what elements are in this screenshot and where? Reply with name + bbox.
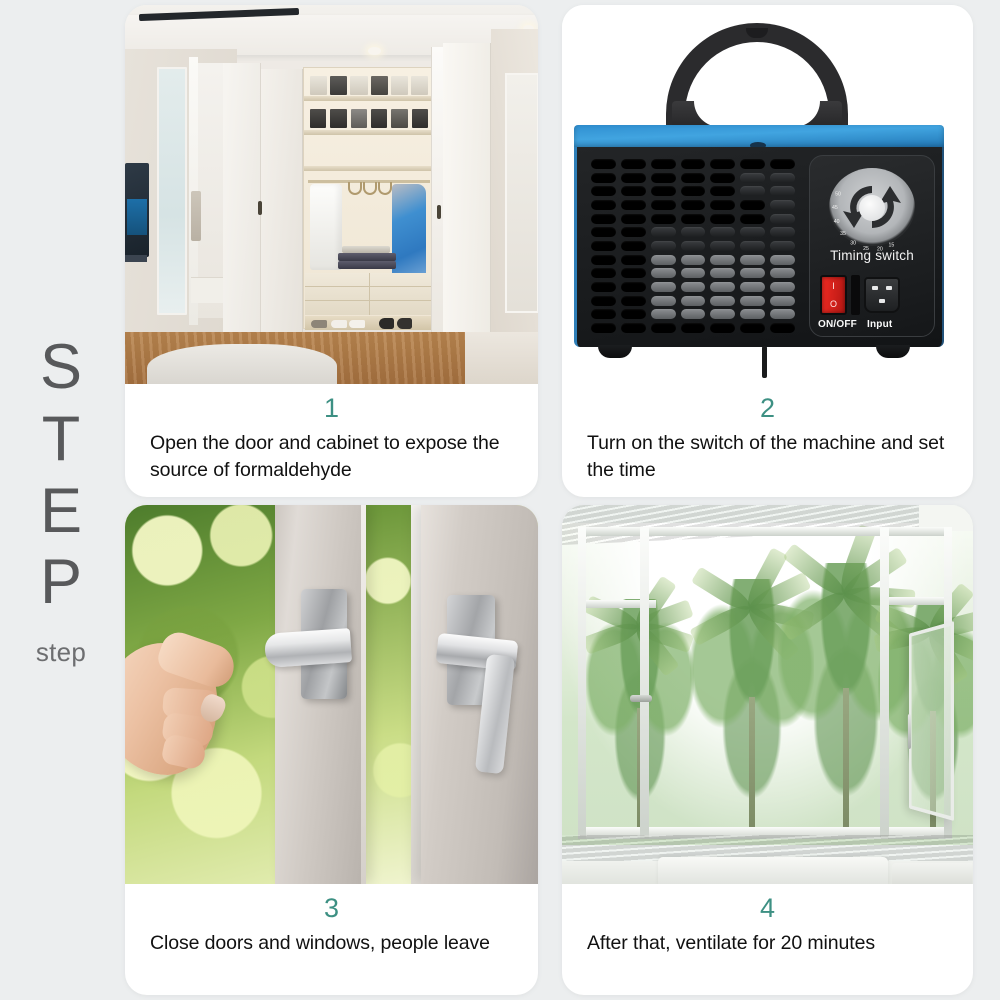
step-2-number: 2 xyxy=(587,392,948,426)
step-4-text: After that, ventilate for 20 minutes xyxy=(587,930,948,957)
step-letters-group: S T E P xyxy=(40,332,82,619)
interior-furniture xyxy=(658,857,888,884)
switch-on-mark: I xyxy=(832,282,835,291)
step-letter-p: P xyxy=(40,547,82,619)
step-1-photo xyxy=(125,5,538,384)
dial-tick-45: 45 xyxy=(832,205,838,211)
wardrobe-drawers xyxy=(305,273,433,315)
step-4-photo xyxy=(562,505,973,884)
step-letter-t: T xyxy=(42,404,80,476)
power-rocker-switch[interactable]: I O xyxy=(820,275,847,315)
palm-tree xyxy=(586,599,694,835)
step-1-caption: 1 Open the door and cabinet to expose th… xyxy=(125,384,538,497)
step-letter-e: E xyxy=(40,476,82,548)
machine-body: 15 20 25 30 35 40 45 50 xyxy=(574,147,944,347)
bifold-door-right-inner xyxy=(431,47,443,349)
blue-garment xyxy=(392,184,426,280)
step-2-photo: 15 20 25 30 35 40 45 50 xyxy=(562,5,973,384)
input-label: Input xyxy=(867,319,892,330)
dial-tick-50: 50 xyxy=(835,191,841,197)
hand-grasping-handle xyxy=(125,633,251,783)
machine-foot xyxy=(598,345,632,358)
step-card-1: 1 Open the door and cabinet to expose th… xyxy=(125,5,538,497)
carry-handle xyxy=(666,23,848,113)
ceiling-spotlight-icon xyxy=(368,47,381,55)
window-ventilation-scene xyxy=(562,505,973,884)
right-wall-panel xyxy=(505,73,538,313)
hanging-towel xyxy=(191,191,201,241)
step-3-text: Close doors and windows, people leave xyxy=(150,930,513,957)
timing-switch-label: Timing switch xyxy=(810,248,934,263)
power-input-socket xyxy=(864,277,900,313)
step-2-text: Turn on the switch of the machine and se… xyxy=(587,430,948,484)
door-handle-scene xyxy=(125,505,538,884)
door-handle xyxy=(258,201,262,215)
power-cord xyxy=(762,346,767,378)
bifold-door-left-outer xyxy=(223,63,261,335)
tv-stand xyxy=(125,255,147,262)
shelf xyxy=(304,130,432,135)
step-sublabel: step xyxy=(36,637,86,668)
frosted-glass-door xyxy=(157,67,187,315)
wall-tv xyxy=(125,163,149,257)
bed-foreground xyxy=(147,344,337,384)
control-labels: ON/OFF Input xyxy=(818,319,928,330)
interior-furniture-right xyxy=(892,863,972,884)
step-2-caption: 2 Turn on the switch of the machine and … xyxy=(562,384,973,497)
storage-boxes xyxy=(310,109,428,128)
step-vertical-label: S T E P step xyxy=(0,0,122,1000)
folded-stack xyxy=(338,246,396,268)
panel-blank-plate xyxy=(851,275,860,315)
shelf xyxy=(304,166,432,171)
closet-scene xyxy=(125,5,538,384)
dial-tick-40: 40 xyxy=(834,219,840,225)
switch-off-mark: O xyxy=(830,300,837,309)
door-handle-right[interactable] xyxy=(447,595,523,727)
door-edge-seam xyxy=(361,505,366,884)
step-letter-s: S xyxy=(40,332,82,404)
step-3-caption: 3 Close doors and windows, people leave xyxy=(125,884,538,995)
folded-towels xyxy=(310,76,428,95)
ozone-generator: 15 20 25 30 35 40 45 50 xyxy=(562,5,973,384)
onoff-label: ON/OFF xyxy=(818,319,857,330)
handle-lever xyxy=(264,628,352,668)
floor-right-wall xyxy=(465,332,538,384)
ceiling-corner xyxy=(919,505,973,531)
wardrobe-interior xyxy=(303,67,433,329)
step-4-number: 4 xyxy=(587,892,948,926)
step-3-photo xyxy=(125,505,538,884)
ventilation-grille xyxy=(589,157,797,335)
door-handle-left[interactable] xyxy=(293,589,351,705)
timing-dial[interactable]: 15 20 25 30 35 40 45 50 xyxy=(825,168,919,248)
step-1-number: 1 xyxy=(150,392,513,426)
step-card-3: 3 Close doors and windows, people leave xyxy=(125,505,538,995)
empty-hangers xyxy=(348,182,394,198)
door-handle xyxy=(437,205,441,219)
dial-tick-30: 30 xyxy=(850,241,856,247)
step-1-text: Open the door and cabinet to expose the … xyxy=(150,430,513,484)
step-card-4: 4 After that, ventilate for 20 minutes xyxy=(562,505,973,995)
bifold-door-left-inner xyxy=(261,69,303,334)
shelf xyxy=(304,96,432,101)
dial-knob[interactable] xyxy=(859,195,885,221)
control-panel: 15 20 25 30 35 40 45 50 xyxy=(809,155,935,337)
tilted-open-window-pane[interactable] xyxy=(909,621,954,821)
power-controls-row: I O xyxy=(820,273,926,317)
shoes-row xyxy=(309,316,429,329)
step-4-caption: 4 After that, ventilate for 20 minutes xyxy=(562,884,973,995)
bifold-door-right-outer xyxy=(443,43,491,355)
step-3-number: 3 xyxy=(150,892,513,926)
steps-grid: 1 Open the door and cabinet to expose th… xyxy=(123,5,995,995)
step-card-2: 15 20 25 30 35 40 45 50 xyxy=(562,5,973,497)
machine-foot xyxy=(876,345,910,358)
machine-top-panel xyxy=(574,125,944,149)
